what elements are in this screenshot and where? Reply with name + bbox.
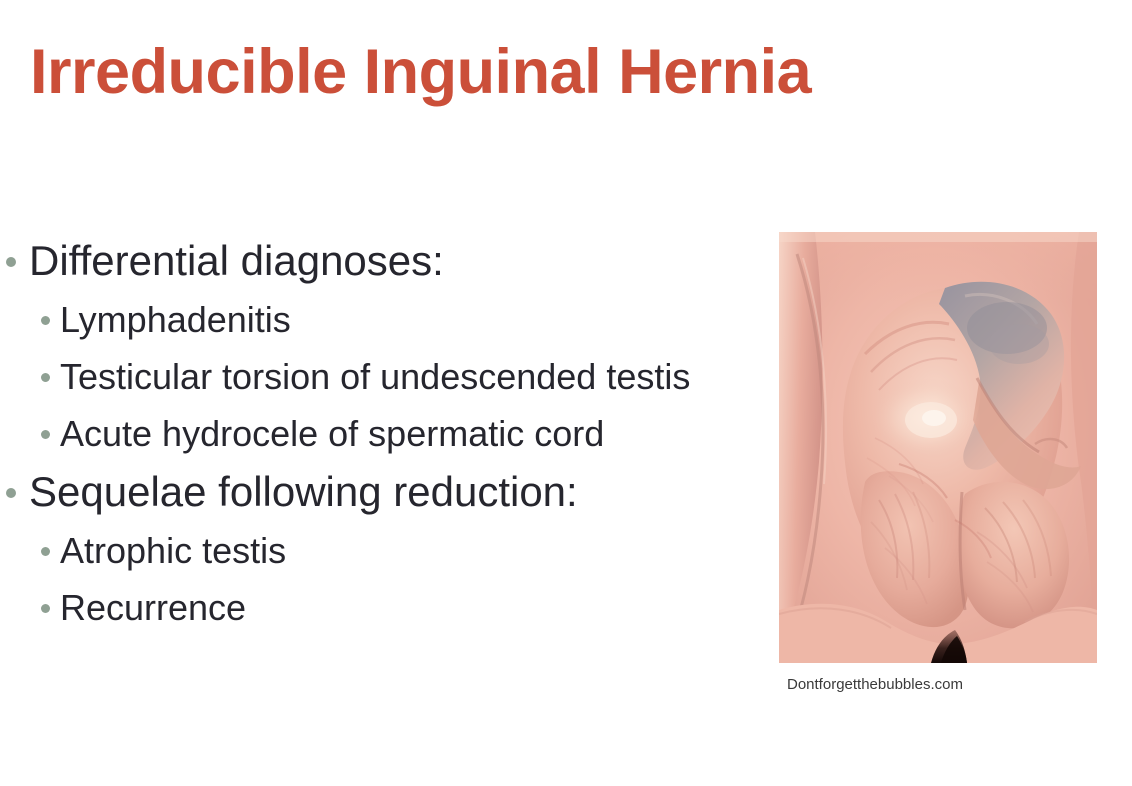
bullet-dot-icon xyxy=(41,316,50,325)
bullet-item: Recurrence xyxy=(0,586,790,643)
bullet-text: Lymphadenitis xyxy=(60,302,291,338)
bullet-item: Atrophic testis xyxy=(0,529,790,586)
bullet-text: Atrophic testis xyxy=(60,533,286,569)
bullet-text: Testicular torsion of undescended testis xyxy=(60,359,690,395)
bullet-text: Sequelae following reduction: xyxy=(29,471,578,513)
bullet-dot-icon xyxy=(41,430,50,439)
bullet-dot-icon xyxy=(41,547,50,556)
bullet-list: Differential diagnoses:LymphadenitisTest… xyxy=(0,238,790,643)
bullet-dot-icon xyxy=(6,257,16,267)
bullet-dot-icon xyxy=(41,373,50,382)
bullet-item: Lymphadenitis xyxy=(0,298,790,355)
bullet-text: Recurrence xyxy=(60,590,246,626)
bullet-item: Acute hydrocele of spermatic cord xyxy=(0,412,790,469)
bullet-item: Sequelae following reduction: xyxy=(0,469,790,529)
presentation-slide: Irreducible Inguinal Hernia Differential… xyxy=(0,0,1132,786)
bullet-item: Testicular torsion of undescended testis xyxy=(0,355,790,412)
page-title: Irreducible Inguinal Hernia xyxy=(30,37,811,108)
figure-container xyxy=(779,232,1097,663)
clinical-photograph-image xyxy=(779,232,1097,663)
figure-caption: Dontforgetthebubbles.com xyxy=(787,676,963,693)
bullet-item: Differential diagnoses: xyxy=(0,238,790,298)
bullet-text: Acute hydrocele of spermatic cord xyxy=(60,416,604,452)
bullet-dot-icon xyxy=(41,604,50,613)
bullet-text: Differential diagnoses: xyxy=(29,240,444,282)
bullet-dot-icon xyxy=(6,488,16,498)
